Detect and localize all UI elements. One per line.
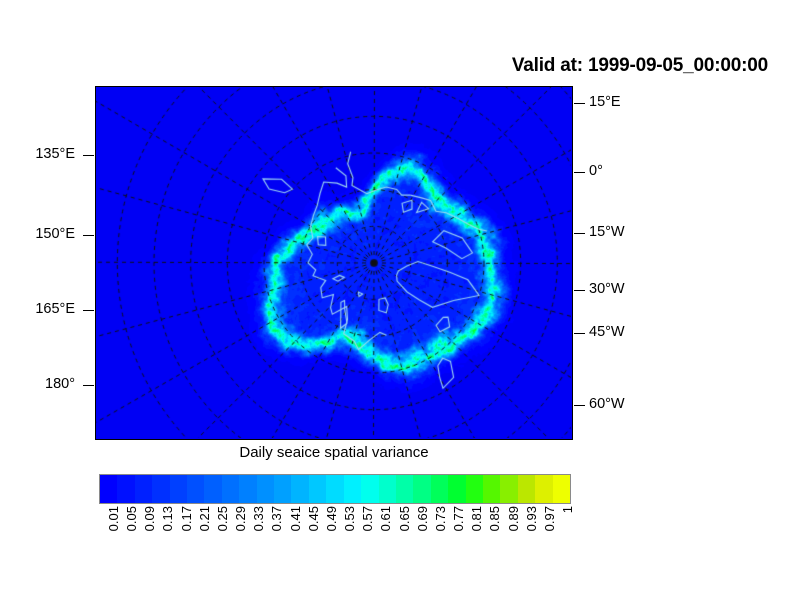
- colorbar-tick-label: 0.77: [452, 506, 465, 531]
- left-axis-label: 180°: [45, 377, 75, 392]
- colorbar-tick-label: 0.61: [379, 506, 392, 531]
- colorbar-swatch: [500, 475, 517, 503]
- right-axis-label: 60°W: [589, 397, 625, 412]
- colorbar-swatch: [204, 475, 221, 503]
- right-axis-label: 15°W: [589, 225, 625, 240]
- colorbar-tick-label: 0.37: [270, 506, 283, 531]
- colorbar-tick-label: 0.73: [434, 506, 447, 531]
- colorbar-swatch: [117, 475, 134, 503]
- colorbar-swatch: [309, 475, 326, 503]
- colorbar-swatch: [135, 475, 152, 503]
- colorbar-tick-label: 0.09: [143, 506, 156, 531]
- colorbar-swatch: [344, 475, 361, 503]
- colorbar-swatch: [222, 475, 239, 503]
- right-axis-tick: [574, 233, 585, 234]
- colorbar-swatch: [379, 475, 396, 503]
- colorbar-swatch: [239, 475, 256, 503]
- colorbar-tick-label: 0.29: [234, 506, 247, 531]
- right-axis-tick: [574, 405, 585, 406]
- colorbar-tick-labels: 0.010.050.090.130.170.210.250.290.330.37…: [99, 506, 571, 566]
- colorbar-tick-label: 0.69: [416, 506, 429, 531]
- colorbar-tick-label: 1: [561, 506, 574, 513]
- colorbar-swatch: [274, 475, 291, 503]
- map-raster-canvas: [96, 87, 571, 438]
- right-axis-tick: [574, 172, 585, 173]
- colorbar-swatch: [170, 475, 187, 503]
- right-axis-label: 15°E: [589, 95, 621, 110]
- left-axis-label: 165°E: [35, 302, 75, 317]
- left-axis-tick: [83, 385, 94, 386]
- colorbar: [99, 474, 571, 504]
- colorbar-tick-label: 0.21: [198, 506, 211, 531]
- colorbar-swatch: [483, 475, 500, 503]
- colorbar-tick-label: 0.17: [180, 506, 193, 531]
- left-axis-label: 150°E: [35, 227, 75, 242]
- left-axis-label: 135°E: [35, 147, 75, 162]
- colorbar-tick-label: 0.49: [325, 506, 338, 531]
- right-axis-label: 30°W: [589, 282, 625, 297]
- colorbar-swatch: [257, 475, 274, 503]
- map-caption: Daily seaice spatial variance: [95, 444, 573, 461]
- colorbar-tick-label: 0.45: [307, 506, 320, 531]
- colorbar-tick-label: 0.57: [361, 506, 374, 531]
- colorbar-tick-label: 0.53: [343, 506, 356, 531]
- colorbar-tick-label: 0.05: [125, 506, 138, 531]
- colorbar-swatch: [431, 475, 448, 503]
- left-axis-tick: [83, 155, 94, 156]
- colorbar-tick-label: 0.33: [252, 506, 265, 531]
- colorbar-tick-label: 0.01: [107, 506, 120, 531]
- colorbar-swatch: [448, 475, 465, 503]
- map-plot-panel: [95, 86, 573, 440]
- left-axis-tick: [83, 235, 94, 236]
- colorbar-swatch: [291, 475, 308, 503]
- colorbar-swatch: [100, 475, 117, 503]
- colorbar-tick-label: 0.41: [289, 506, 302, 531]
- colorbar-tick-label: 0.65: [398, 506, 411, 531]
- colorbar-swatch: [361, 475, 378, 503]
- colorbar-tick-label: 0.25: [216, 506, 229, 531]
- right-axis-label: 0°: [589, 164, 603, 179]
- left-axis-tick: [83, 310, 94, 311]
- colorbar-tick-label: 0.81: [470, 506, 483, 531]
- colorbar-swatch: [152, 475, 169, 503]
- right-axis-tick: [574, 103, 585, 104]
- right-axis-tick: [574, 290, 585, 291]
- right-axis-tick: [574, 333, 585, 334]
- page-title: Valid at: 1999-09-05_00:00:00: [0, 55, 768, 77]
- colorbar-tick-label: 0.85: [488, 506, 501, 531]
- colorbar-swatch: [326, 475, 343, 503]
- colorbar-swatch: [535, 475, 552, 503]
- colorbar-tick-label: 0.93: [525, 506, 538, 531]
- colorbar-tick-label: 0.89: [507, 506, 520, 531]
- colorbar-tick-label: 0.13: [161, 506, 174, 531]
- colorbar-swatch: [553, 475, 570, 503]
- colorbar-swatch: [187, 475, 204, 503]
- colorbar-swatch: [466, 475, 483, 503]
- colorbar-tick-label: 0.97: [543, 506, 556, 531]
- colorbar-swatch: [413, 475, 430, 503]
- colorbar-swatch: [518, 475, 535, 503]
- colorbar-swatch: [396, 475, 413, 503]
- right-axis-label: 45°W: [589, 325, 625, 340]
